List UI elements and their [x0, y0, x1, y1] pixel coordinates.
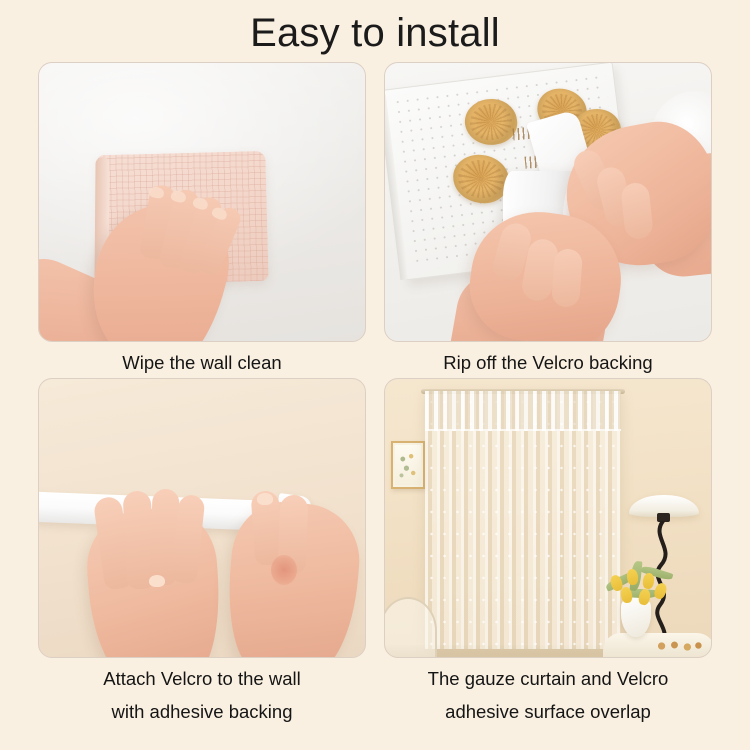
step-4-caption: The gauze curtain and Velcro adhesive su… — [384, 658, 712, 728]
step-card-3: Attach Velcro to the wall with adhesive … — [38, 378, 366, 694]
tulip — [642, 572, 655, 589]
step-3-caption-line-2: with adhesive backing — [38, 695, 366, 728]
step-3-caption-line-1: Attach Velcro to the wall — [103, 668, 300, 689]
step-2-caption: Rip off the Velcro backing — [384, 342, 712, 379]
step-3-caption: Attach Velcro to the wall with adhesive … — [38, 658, 366, 728]
tulip-bouquet — [601, 559, 677, 609]
step-card-1: Wipe the wall clean — [38, 62, 366, 378]
step-3-photo — [38, 378, 366, 658]
hand-gap-shadow — [271, 555, 297, 585]
step-1-caption: Wipe the wall clean — [38, 342, 366, 379]
step-4-photo — [384, 378, 712, 658]
product-infographic: Easy to install Wipe the wall clean — [0, 0, 750, 750]
step-card-4: The gauze curtain and Velcro adhesive su… — [384, 378, 712, 694]
step-card-2: Rip off the Velcro backing — [384, 62, 712, 378]
botanical-print — [395, 445, 421, 485]
step-2-photo — [384, 62, 712, 342]
steps-grid: Wipe the wall clean — [38, 62, 712, 742]
fingernail — [257, 493, 273, 505]
framed-picture — [391, 441, 425, 489]
fingernail — [149, 575, 165, 587]
step-2-caption-line-1: Rip off the Velcro backing — [443, 352, 652, 373]
page-title: Easy to install — [0, 9, 750, 57]
finger — [551, 248, 583, 308]
tulip — [653, 582, 669, 601]
step-1-photo — [38, 62, 366, 342]
step-4-caption-line-1: The gauze curtain and Velcro — [428, 668, 669, 689]
step-4-caption-line-2: adhesive surface overlap — [384, 695, 712, 728]
step-1-caption-line-1: Wipe the wall clean — [122, 352, 281, 373]
nuts-on-table — [657, 641, 703, 651]
curtain-valance — [425, 391, 621, 431]
